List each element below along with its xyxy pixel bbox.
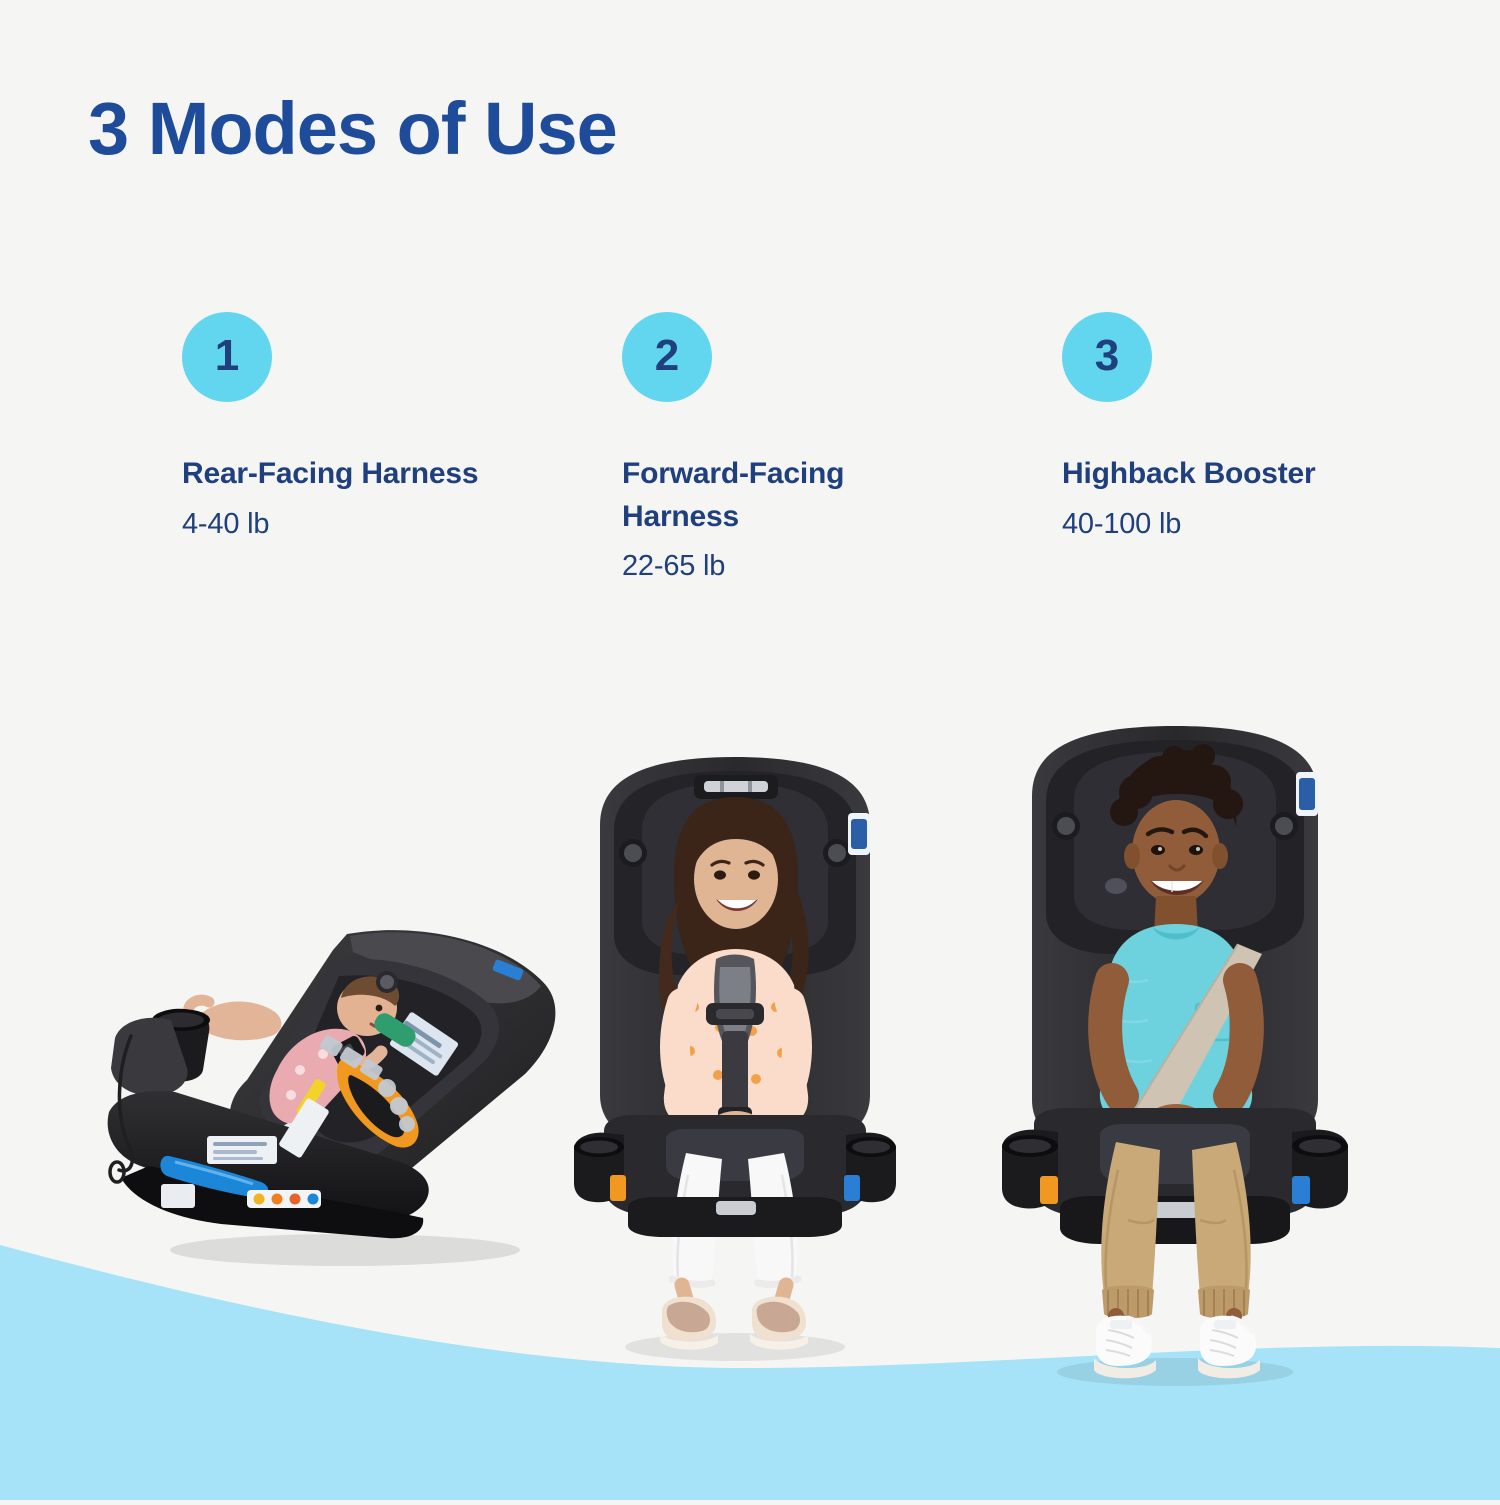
product-photo-forward-facing — [570, 735, 900, 1375]
mode-item-highback-booster: 3 Highback Booster 40-100 lb — [1062, 312, 1462, 541]
mode-title-1: Rear-Facing Harness — [182, 453, 482, 496]
infographic-canvas: 3 Modes of Use 1 Rear-Facing Harness 4-4… — [0, 0, 1500, 1500]
mode-number-badge-3: 3 — [1062, 312, 1152, 402]
page-title: 3 Modes of Use — [88, 92, 617, 166]
mode-title-2: Forward-Facing Harness — [622, 453, 922, 538]
product-photo-rear-facing — [95, 920, 565, 1280]
mode-weight-1: 4-40 lb — [182, 507, 582, 542]
mode-item-rear-facing: 1 Rear-Facing Harness 4-40 lb — [182, 312, 582, 541]
mode-title-3: Highback Booster — [1062, 453, 1362, 496]
mode-number-badge-1: 1 — [182, 312, 272, 402]
mode-item-forward-facing: 2 Forward-Facing Harness 22-65 lb — [622, 312, 1022, 584]
product-photo-highback-booster — [1000, 700, 1350, 1400]
mode-number-badge-2: 2 — [622, 312, 712, 402]
mode-weight-3: 40-100 lb — [1062, 507, 1462, 542]
mode-weight-2: 22-65 lb — [622, 549, 1022, 584]
